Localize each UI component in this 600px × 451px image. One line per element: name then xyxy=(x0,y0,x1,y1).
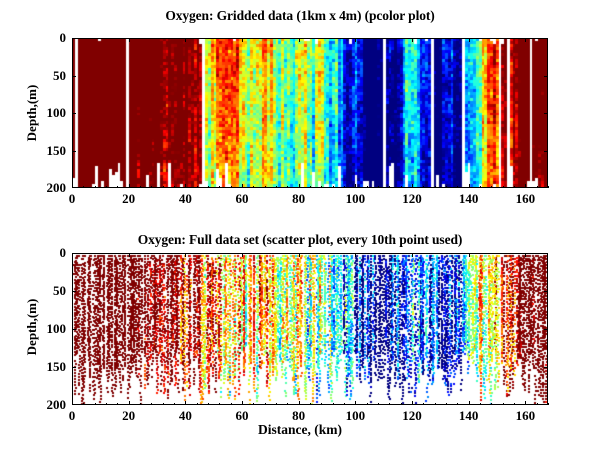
bottom-xminor-mark xyxy=(367,403,368,405)
bottom-xtick-mark xyxy=(355,401,356,405)
top-xtick-mark xyxy=(469,184,470,188)
top-xtick-120: 120 xyxy=(402,191,422,207)
top-xtick-mark xyxy=(355,38,356,42)
bottom-xtick-mark xyxy=(412,401,413,405)
top-xminor-mark xyxy=(321,186,322,188)
top-xminor-mark xyxy=(253,186,254,188)
top-xtick-mark xyxy=(469,38,470,42)
bottom-xminor-mark xyxy=(106,403,107,405)
bottom-xminor-mark xyxy=(208,403,209,405)
top-ytick-150: 150 xyxy=(30,143,66,159)
top-xminor-mark xyxy=(276,186,277,188)
top-xminor-mark xyxy=(83,186,84,188)
bottom-xminor-mark xyxy=(174,403,175,405)
top-xtick-mark xyxy=(299,184,300,188)
bottom-xtick-mark xyxy=(129,401,130,405)
top-xtick-100: 100 xyxy=(346,191,366,207)
bottom-xminor-mark xyxy=(401,403,402,405)
top-xminor-mark xyxy=(117,186,118,188)
top-xtick-mark xyxy=(412,38,413,42)
top-xtick-mark xyxy=(355,184,356,188)
top-ytick-mark xyxy=(544,76,548,77)
bottom-xtick-mark xyxy=(299,401,300,405)
top-xtick-mark xyxy=(412,184,413,188)
top-xminor-mark xyxy=(401,186,402,188)
bottom-xminor-mark xyxy=(117,403,118,405)
top-xminor-mark xyxy=(310,186,311,188)
top-xminor-mark xyxy=(265,186,266,188)
top-xminor-mark xyxy=(208,186,209,188)
top-xtick-mark xyxy=(242,38,243,42)
bottom-xtick-mark xyxy=(299,253,300,257)
bottom-xminor-mark xyxy=(344,403,345,405)
bottom-xminor-mark xyxy=(537,403,538,405)
top-xminor-mark xyxy=(503,186,504,188)
top-xtick-mark xyxy=(242,184,243,188)
bottom-ytick-200: 200 xyxy=(30,397,66,413)
bottom-ytick-mark xyxy=(72,291,76,292)
top-xtick-mark xyxy=(299,38,300,42)
figure-canvas: Oxygen: Gridded data (1km x 4m) (pcolor … xyxy=(0,0,600,451)
bottom-xminor-mark xyxy=(231,403,232,405)
subplot-fulldata-scatter: Oxygen: Full data set (scatter plot, eve… xyxy=(0,215,600,451)
scatter-data-surface xyxy=(73,254,547,404)
top-xminor-mark xyxy=(457,186,458,188)
top-axes-box xyxy=(72,38,548,188)
bottom-xminor-mark xyxy=(435,403,436,405)
bottom-xtick-mark xyxy=(129,253,130,257)
top-xtick-40: 40 xyxy=(179,191,192,207)
bottom-xminor-mark xyxy=(219,403,220,405)
top-xminor-mark xyxy=(446,186,447,188)
bottom-xminor-mark xyxy=(491,403,492,405)
top-xminor-mark xyxy=(435,186,436,188)
top-xtick-mark xyxy=(72,184,73,188)
bottom-ytick-0: 0 xyxy=(30,245,66,261)
bottom-xminor-mark xyxy=(503,403,504,405)
top-xminor-mark xyxy=(548,186,549,188)
top-ytick-mark xyxy=(544,151,548,152)
top-xminor-mark xyxy=(95,186,96,188)
bottom-xminor-mark xyxy=(480,403,481,405)
top-ytick-mark xyxy=(72,76,76,77)
top-xminor-mark xyxy=(151,186,152,188)
top-ytick-50: 50 xyxy=(30,68,66,84)
bottom-ytick-mark xyxy=(544,253,548,254)
top-xminor-mark xyxy=(333,186,334,188)
bottom-xtick-mark xyxy=(469,253,470,257)
bottom-xminor-mark xyxy=(548,403,549,405)
bottom-xtick-mark xyxy=(525,253,526,257)
bottom-xtick-mark xyxy=(469,401,470,405)
subplot-gridded-pcolor: Oxygen: Gridded data (1km x 4m) (pcolor … xyxy=(0,0,600,215)
bottom-xminor-mark xyxy=(95,403,96,405)
top-ytick-100: 100 xyxy=(30,105,66,121)
bottom-xminor-mark xyxy=(310,403,311,405)
top-ytick-mark xyxy=(544,113,548,114)
top-ytick-0: 0 xyxy=(30,30,66,46)
bottom-ytick-50: 50 xyxy=(30,283,66,299)
bottom-xminor-mark xyxy=(163,403,164,405)
bottom-xtick-mark xyxy=(355,253,356,257)
bottom-xminor-mark xyxy=(457,403,458,405)
bottom-xtick-mark xyxy=(185,401,186,405)
bottom-xminor-mark xyxy=(514,403,515,405)
top-xminor-mark xyxy=(174,186,175,188)
top-xminor-mark xyxy=(231,186,232,188)
top-ytick-200: 200 xyxy=(30,180,66,196)
bottom-ytick-mark xyxy=(72,367,76,368)
bottom-ytick-mark xyxy=(544,367,548,368)
bottom-xminor-mark xyxy=(446,403,447,405)
top-xtick-mark xyxy=(185,184,186,188)
bottom-xtick-mark xyxy=(185,253,186,257)
top-xtick-mark xyxy=(185,38,186,42)
bottom-xminor-mark xyxy=(83,403,84,405)
top-xtick-60: 60 xyxy=(236,191,249,207)
top-xminor-mark xyxy=(163,186,164,188)
top-xminor-mark xyxy=(219,186,220,188)
bottom-xminor-mark xyxy=(276,403,277,405)
top-xminor-mark xyxy=(480,186,481,188)
top-xtick-160: 160 xyxy=(516,191,536,207)
bottom-xtick-mark xyxy=(525,401,526,405)
top-xtick-140: 140 xyxy=(459,191,479,207)
top-plot-title: Oxygen: Gridded data (1km x 4m) (pcolor … xyxy=(0,8,600,24)
top-xtick-80: 80 xyxy=(292,191,305,207)
bottom-xtick-mark xyxy=(242,253,243,257)
top-xminor-mark xyxy=(537,186,538,188)
top-xminor-mark xyxy=(287,186,288,188)
bottom-axes-box xyxy=(72,253,548,405)
bottom-ytick-mark xyxy=(544,329,548,330)
bottom-xminor-mark xyxy=(151,403,152,405)
bottom-plot-title: Oxygen: Full data set (scatter plot, eve… xyxy=(0,232,600,248)
top-xminor-mark xyxy=(197,186,198,188)
bottom-ytick-100: 100 xyxy=(30,321,66,337)
bottom-xtick-mark xyxy=(242,401,243,405)
top-xminor-mark xyxy=(389,186,390,188)
top-ytick-mark xyxy=(72,113,76,114)
top-xtick-mark xyxy=(129,38,130,42)
bottom-ytick-mark xyxy=(544,291,548,292)
top-xtick-0: 0 xyxy=(69,191,76,207)
bottom-ytick-mark xyxy=(72,329,76,330)
top-xtick-mark xyxy=(72,38,73,42)
top-xminor-mark xyxy=(423,186,424,188)
bottom-xminor-mark xyxy=(265,403,266,405)
bottom-xminor-mark xyxy=(197,403,198,405)
top-xminor-mark xyxy=(140,186,141,188)
top-ytick-mark xyxy=(72,151,76,152)
top-xminor-mark xyxy=(491,186,492,188)
top-xminor-mark xyxy=(378,186,379,188)
bottom-xminor-mark xyxy=(287,403,288,405)
bottom-xlabel: Distance, (km) xyxy=(0,422,600,438)
bottom-xtick-mark xyxy=(72,253,73,257)
top-xminor-mark xyxy=(106,186,107,188)
bottom-xtick-mark xyxy=(72,401,73,405)
top-xminor-mark xyxy=(344,186,345,188)
bottom-xminor-mark xyxy=(321,403,322,405)
bottom-xminor-mark xyxy=(378,403,379,405)
bottom-xminor-mark xyxy=(333,403,334,405)
top-xtick-mark xyxy=(129,184,130,188)
top-xtick-mark xyxy=(525,38,526,42)
bottom-xtick-mark xyxy=(412,253,413,257)
bottom-xminor-mark xyxy=(389,403,390,405)
top-ytick-mark xyxy=(544,38,548,39)
bottom-ytick-150: 150 xyxy=(30,359,66,375)
top-xminor-mark xyxy=(514,186,515,188)
top-xtick-mark xyxy=(525,184,526,188)
bottom-xminor-mark xyxy=(140,403,141,405)
bottom-xminor-mark xyxy=(253,403,254,405)
pcolor-data-surface xyxy=(73,39,547,187)
bottom-xminor-mark xyxy=(423,403,424,405)
top-xtick-20: 20 xyxy=(122,191,135,207)
top-xminor-mark xyxy=(367,186,368,188)
